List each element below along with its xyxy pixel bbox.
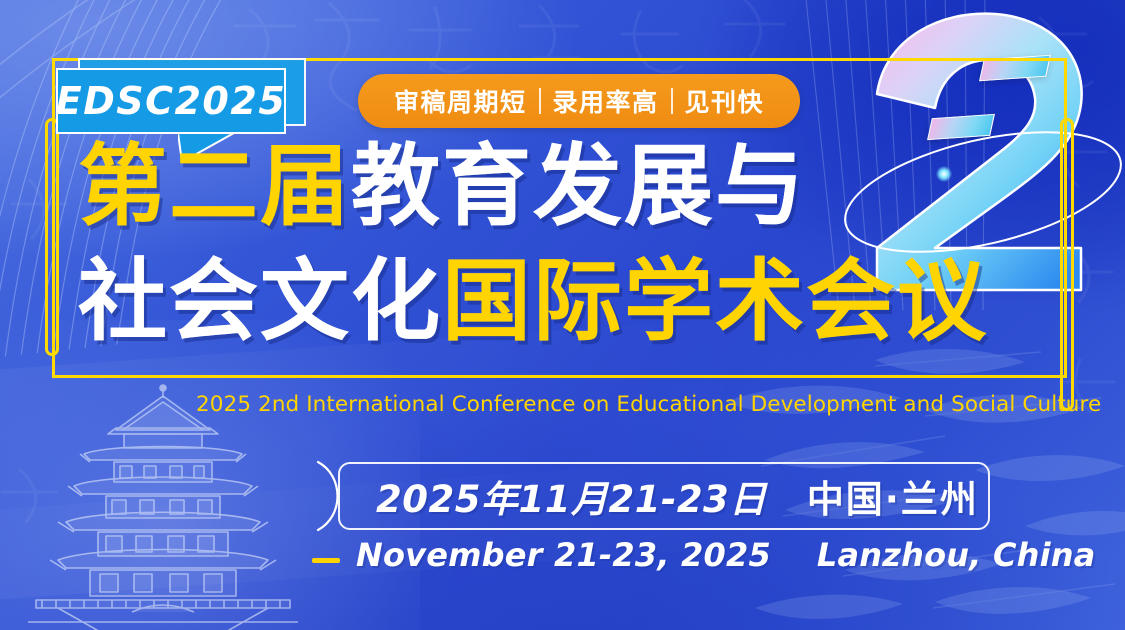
city-english: Lanzhou, China <box>817 536 1096 574</box>
title-line-2-part-2: 国际学术会议 <box>442 249 988 353</box>
conference-code-badge: EDSC2025 <box>56 68 286 134</box>
pagoda-illustration <box>28 384 298 630</box>
yellow-dash-icon <box>312 558 340 563</box>
date-english: November 21-23, 2025 <box>356 536 771 574</box>
highlight-item-review-cycle: 审稿周期短 <box>382 83 539 119</box>
title-line-1-part-1: 第二届 <box>78 134 351 238</box>
poster-title: 第二届教育发展与 社会文化国际学术会议 <box>78 140 1058 347</box>
title-line-2: 社会文化国际学术会议 <box>78 255 1058 348</box>
date-chinese: 2025年11月21-23日 <box>376 469 767 523</box>
highlight-item-fast-publication: 见刊快 <box>673 83 777 119</box>
english-subtitle: 2025 2nd International Conference on Edu… <box>196 392 1101 417</box>
title-line-2-part-1: 社会文化 <box>78 249 442 353</box>
conference-poster: EDSC2025 审稿周期短 录用率高 见刊快 第二届教育发展与 社会文化国际学… <box>0 0 1125 630</box>
title-line-1-part-2: 教育发展与 <box>351 134 806 238</box>
yellow-frame-bar-right <box>1060 118 1074 411</box>
conference-code-label: EDSC2025 <box>56 79 287 123</box>
yellow-frame-bar-left <box>45 118 59 356</box>
date-location-box: 2025年11月21-23日 中国·兰州 <box>338 462 990 530</box>
date-location-english: November 21-23, 2025 Lanzhou, China <box>356 536 1096 574</box>
highlight-item-acceptance-rate: 录用率高 <box>541 83 671 119</box>
highlights-badge: 审稿周期短 录用率高 见刊快 <box>358 74 800 128</box>
city-chinese: 中国·兰州 <box>807 469 979 523</box>
title-line-1: 第二届教育发展与 <box>78 140 1058 233</box>
